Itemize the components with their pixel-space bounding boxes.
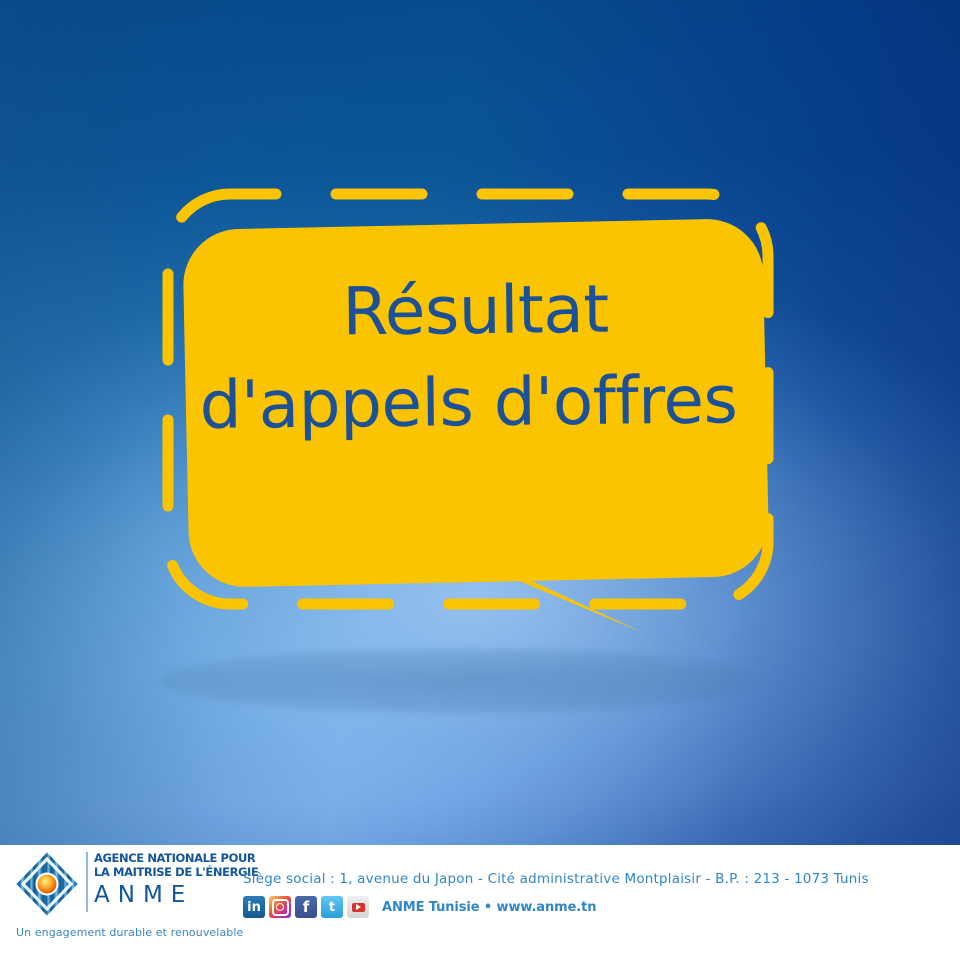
bubble-ground-shadow [160,648,764,714]
poster-canvas: Résultat d'appels d'offres [0,0,960,960]
linkedin-icon[interactable]: in [243,896,265,918]
social-links: in f t ANME Tunisie • www.anme.tn [243,896,943,918]
instagram-icon[interactable] [269,896,291,918]
twitter-icon[interactable]: t [321,896,343,918]
facebook-icon[interactable]: f [295,896,317,918]
logo-divider [86,852,88,912]
youtube-icon[interactable] [347,896,369,918]
anme-logo[interactable]: AGENCE NATIONALE POUR LA MAITRISE DE L'É… [10,848,210,948]
footer-bar: AGENCE NATIONALE POUR LA MAITRISE DE L'É… [0,845,960,960]
logo-wordmark: AGENCE NATIONALE POUR LA MAITRISE DE L'É… [94,851,212,909]
speech-bubble [186,208,766,648]
logo-tagline: Un engagement durable et renouvelable [16,926,216,939]
logo-acronym: ANME [94,881,212,909]
footer-contact-block: Siège social : 1, avenue du Japon - Cité… [243,871,943,918]
footer-address: Siège social : 1, avenue du Japon - Cité… [243,871,943,887]
logo-line-1: AGENCE NATIONALE POUR [94,851,212,865]
anme-diamond-emblem-icon [14,850,80,918]
social-caption: ANME Tunisie • www.anme.tn [382,900,596,915]
logo-line-2: LA MAITRISE DE L'ÉNERGIE [94,865,212,879]
